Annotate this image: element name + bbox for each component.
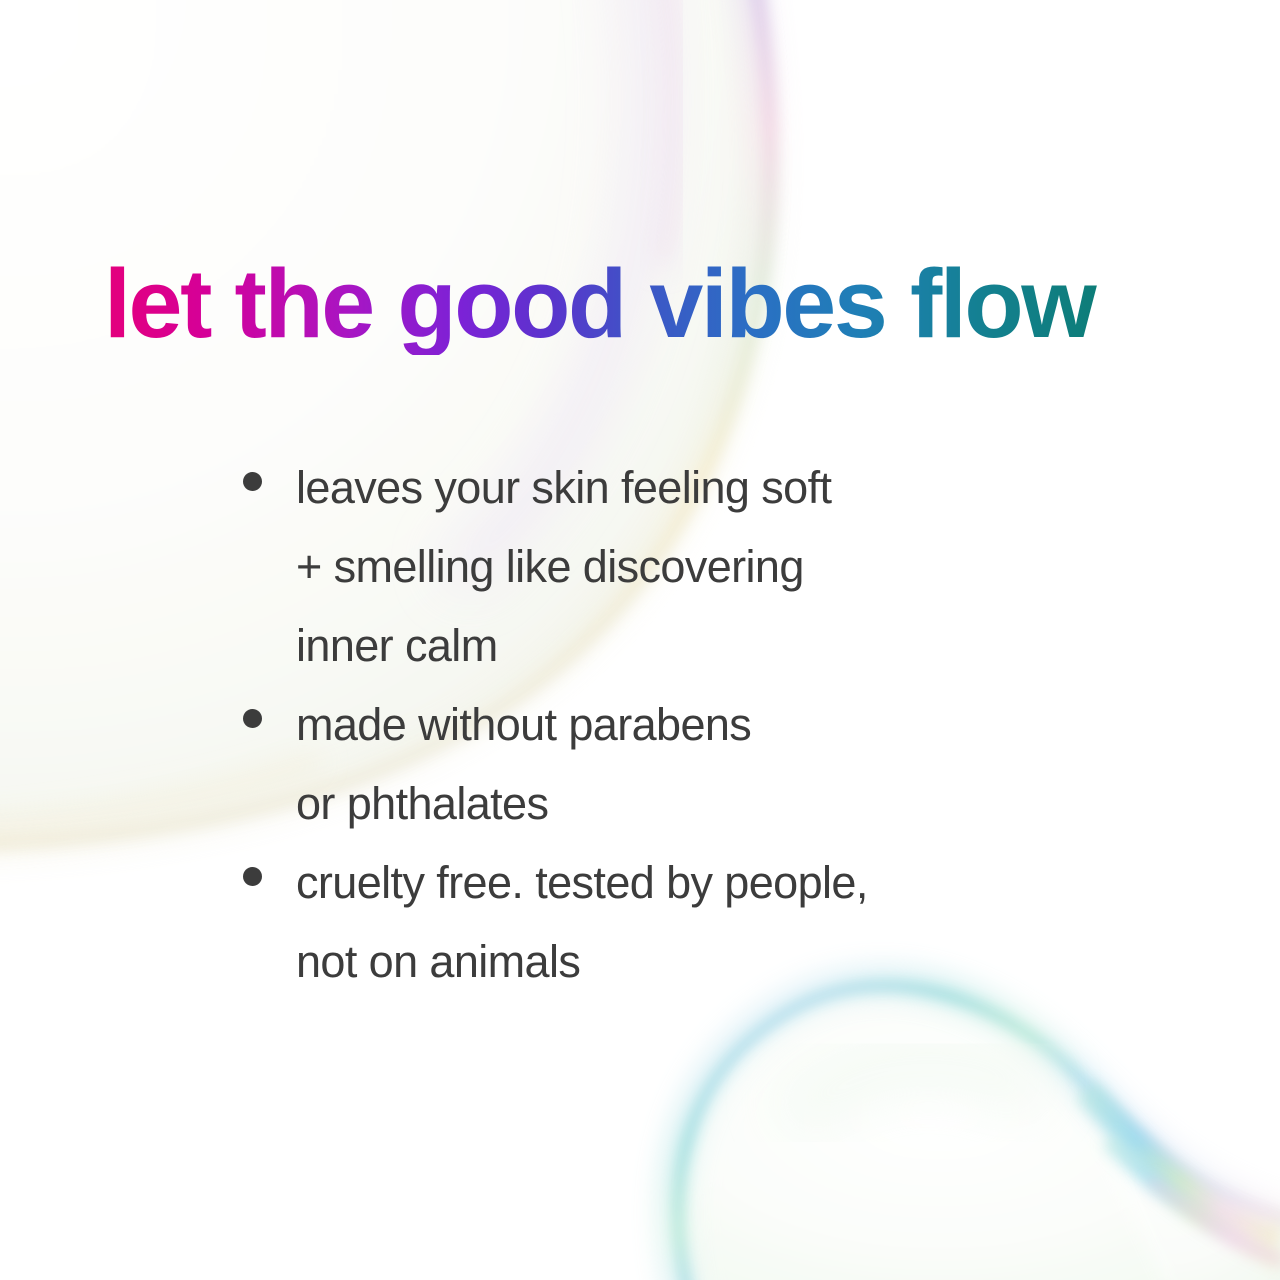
list-item-line: leaves your skin feeling soft <box>296 448 1143 527</box>
bottom-right-soap-bubble <box>672 981 1280 1280</box>
list-item-text: cruelty free. tested by people, not on a… <box>296 843 1143 1001</box>
bullet-dot-icon <box>243 472 262 491</box>
list-item: made without parabens or phthalates <box>243 685 1143 843</box>
bullet-dot-icon <box>243 709 262 728</box>
list-item-line: not on animals <box>296 922 1143 1001</box>
list-item-line: made without parabens <box>296 685 1143 764</box>
list-item-line: + smelling like discovering <box>296 527 1143 606</box>
bullet-dot-icon <box>243 867 262 886</box>
list-item-text: leaves your skin feeling soft + smelling… <box>296 448 1143 685</box>
list-item-line: inner calm <box>296 606 1143 685</box>
list-item-text: made without parabens or phthalates <box>296 685 1143 843</box>
page-title: let the good vibes flow <box>104 253 1184 355</box>
list-item: leaves your skin feeling soft + smelling… <box>243 448 1143 685</box>
benefits-list: leaves your skin feeling soft + smelling… <box>243 448 1143 1001</box>
list-item-line: or phthalates <box>296 764 1143 843</box>
list-item-line: cruelty free. tested by people, <box>296 843 1143 922</box>
list-item: cruelty free. tested by people, not on a… <box>243 843 1143 1001</box>
product-benefits-graphic: let the good vibes flow leaves your skin… <box>0 0 1280 1280</box>
